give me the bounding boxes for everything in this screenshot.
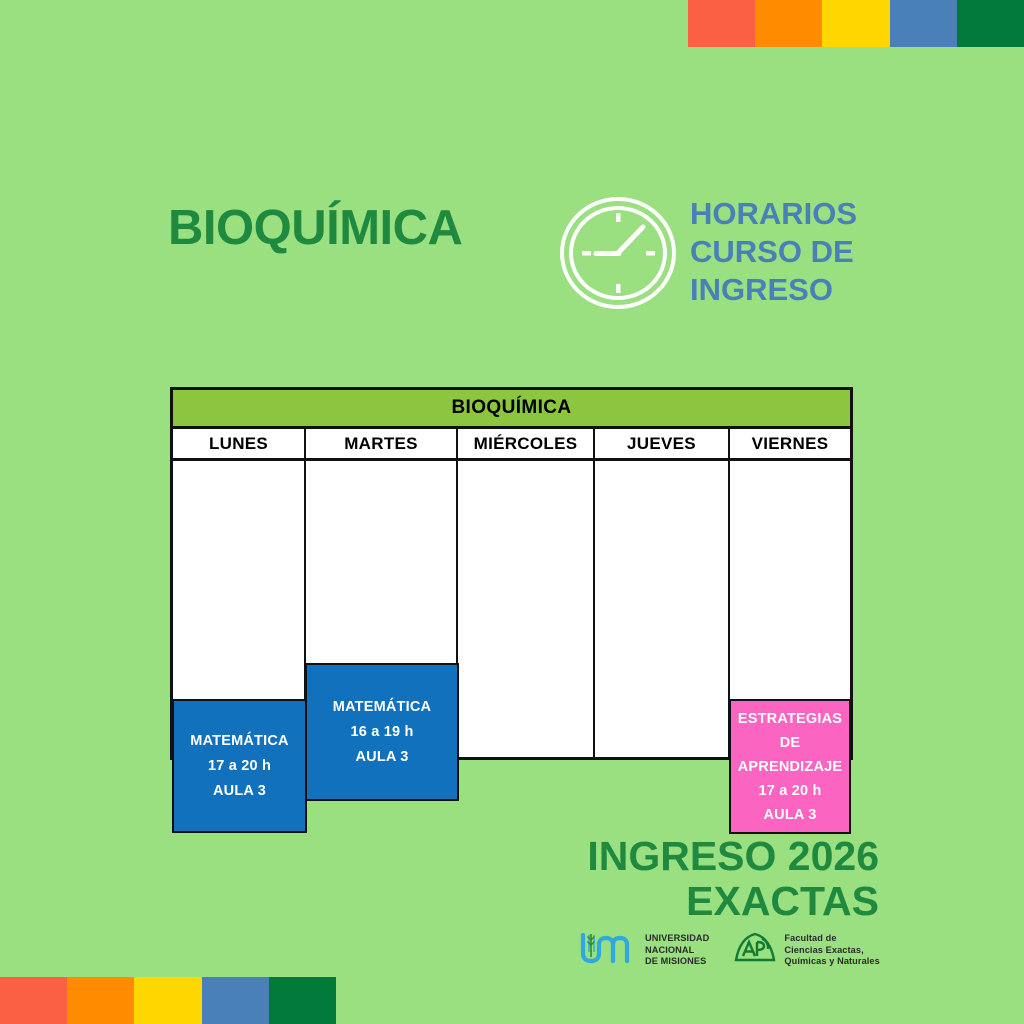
schedule-column-martes: MATEMÁTICA 16 a 19 h AULA 3: [306, 461, 458, 757]
top-right-color-stripes: [688, 0, 1024, 47]
event-name: MATEMÁTICA: [190, 729, 288, 754]
stripe-yellow: [822, 0, 889, 47]
event-martes-matematica[interactable]: MATEMÁTICA 16 a 19 h AULA 3: [305, 663, 459, 801]
schedule-day-header-row: LUNES MARTES MIÉRCOLES JUEVES VIERNES: [173, 429, 850, 461]
event-room: AULA 3: [763, 803, 816, 827]
stripe-green: [269, 977, 336, 1024]
day-header-lunes: LUNES: [173, 429, 306, 458]
stripe-orange: [755, 0, 822, 47]
unam-logo-line-3: DE MISIONES: [645, 956, 709, 967]
day-header-viernes: VIERNES: [730, 429, 850, 458]
event-time: 17 a 20 h: [758, 779, 821, 803]
schedule-column-lunes: MATEMÁTICA 17 a 20 h AULA 3: [173, 461, 306, 757]
header: BIOQUÍMICA HORARIOS CURSO DE INGRESO: [0, 182, 1024, 322]
unam-logo-line-1: UNIVERSIDAD: [645, 933, 709, 944]
header-subtitle-line-1: HORARIOS: [690, 195, 857, 233]
fcen-logo-block: Facultad de Ciencias Exactas, Químicas y…: [733, 931, 879, 970]
bottom-left-color-stripes: [0, 977, 336, 1024]
event-time: 16 a 19 h: [350, 720, 413, 745]
schedule-grid-body: MATEMÁTICA 17 a 20 h AULA 3 MATEMÁTICA 1…: [173, 461, 850, 757]
unam-logo-icon: [578, 931, 638, 970]
footer-logos: UNIVERSIDAD NACIONAL DE MISIONES Faculta…: [578, 931, 880, 970]
unam-logo-line-2: NACIONAL: [645, 945, 709, 956]
footer-heading: INGRESO 2026 EXACTAS: [0, 834, 1024, 924]
event-name-line-3: APRENDIZAJE: [738, 755, 843, 779]
stripe-yellow: [134, 977, 201, 1024]
header-subtitle: HORARIOS CURSO DE INGRESO: [690, 195, 857, 309]
event-room: AULA 3: [213, 779, 266, 804]
footer-heading-line-1: INGRESO 2026: [0, 834, 879, 879]
stripe-blue: [202, 977, 269, 1024]
day-header-martes: MARTES: [306, 429, 458, 458]
day-header-miercoles: MIÉRCOLES: [458, 429, 595, 458]
clock-icon: [556, 196, 680, 310]
stripe-orange: [67, 977, 134, 1024]
schedule-column-jueves: [595, 461, 730, 757]
unam-logo-block: UNIVERSIDAD NACIONAL DE MISIONES: [578, 931, 709, 970]
stripe-green: [957, 0, 1024, 47]
fcen-logo-icon: [733, 931, 777, 970]
event-name: MATEMÁTICA: [333, 695, 431, 720]
schedule-column-miercoles: [458, 461, 595, 757]
fcen-logo-text: Facultad de Ciencias Exactas, Químicas y…: [784, 933, 879, 967]
day-header-jueves: JUEVES: [595, 429, 730, 458]
stripe-red: [0, 977, 67, 1024]
fcen-logo-line-2: Ciencias Exactas,: [784, 945, 879, 956]
fcen-logo-line-3: Químicas y Naturales: [784, 956, 879, 967]
schedule-title: BIOQUÍMICA: [173, 390, 850, 429]
event-lunes-matematica[interactable]: MATEMÁTICA 17 a 20 h AULA 3: [172, 699, 307, 833]
schedule-column-viernes: ESTRATEGIAS DE APRENDIZAJE 17 a 20 h AUL…: [730, 461, 850, 757]
event-room: AULA 3: [355, 745, 408, 770]
schedule-table: BIOQUÍMICA LUNES MARTES MIÉRCOLES JUEVES…: [170, 387, 853, 760]
page-title: BIOQUÍMICA: [168, 200, 548, 256]
event-viernes-estrategias-de-aprendizaje[interactable]: ESTRATEGIAS DE APRENDIZAJE 17 a 20 h AUL…: [729, 699, 851, 834]
event-name-line-2: DE: [780, 731, 801, 755]
header-subtitle-line-3: INGRESO: [690, 271, 857, 309]
unam-logo-text: UNIVERSIDAD NACIONAL DE MISIONES: [645, 933, 709, 967]
fcen-logo-line-1: Facultad de: [784, 933, 879, 944]
footer-heading-line-2: EXACTAS: [0, 879, 879, 924]
stripe-red: [688, 0, 755, 47]
stripe-blue: [890, 0, 957, 47]
event-time: 17 a 20 h: [208, 754, 271, 779]
event-name-line-1: ESTRATEGIAS: [738, 707, 842, 731]
header-subtitle-line-2: CURSO DE: [690, 233, 857, 271]
